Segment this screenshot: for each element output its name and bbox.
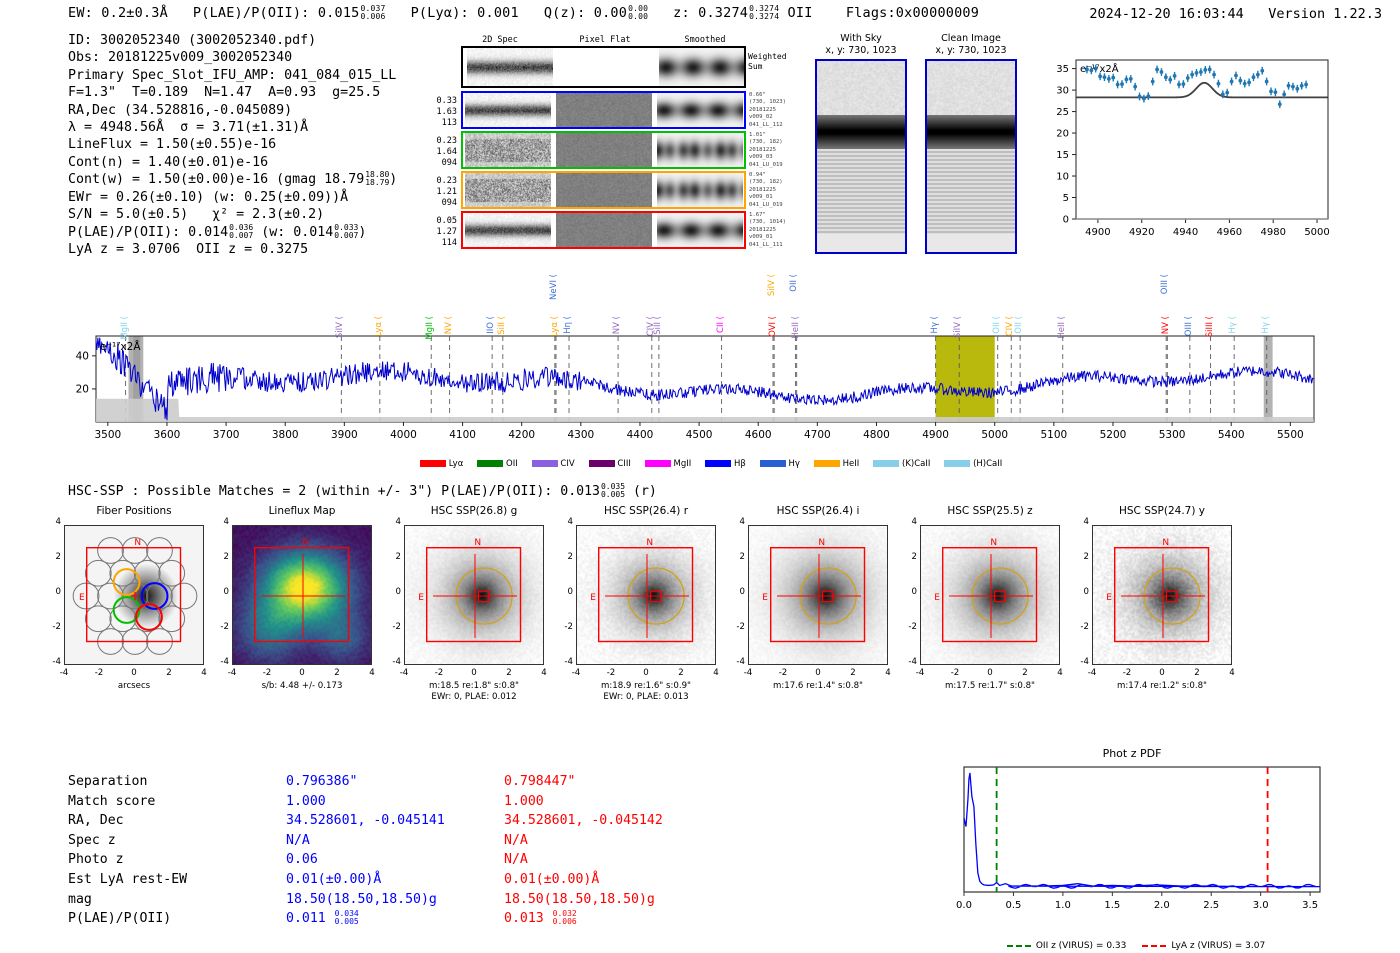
hsc-cutout-overlay: NE [921, 526, 1060, 665]
fiber-row-panel[interactable] [461, 211, 746, 249]
weighted-sum-smoothed [659, 48, 745, 86]
svg-text:N: N [134, 538, 141, 548]
cutout-xtick: 2 [329, 668, 345, 678]
cutout-xtick: 2 [1017, 668, 1033, 678]
cutout-ytick: 0 [558, 587, 573, 597]
fiber-row-stats: 0.051.27114 [427, 216, 457, 249]
fiber-pixelflat [556, 173, 652, 207]
info-line-ifu: Primary Spec_Slot_IFU_AMP: 041_084_015_L… [68, 67, 397, 84]
cutout-xtick: -2 [259, 668, 275, 678]
cutout-xtick: 0 [638, 668, 654, 678]
cutout-ytick: -4 [902, 657, 917, 667]
cutout-title: Lineflux Map [220, 505, 384, 517]
cutout-title: HSC SSP(26.4) r [564, 505, 728, 517]
cutout-xtick: 0 [982, 668, 998, 678]
weighted-sum-2dspec [467, 48, 553, 86]
match1-plae-value: 0.011 [286, 911, 334, 926]
fiber-smoothed [657, 213, 743, 247]
info-line-contw: Cont(w) = 1.50(±0.00)e-16 (gmag 18.7918.… [68, 171, 397, 189]
legend-item: Hγ [760, 459, 800, 469]
cutout-ytick: 2 [558, 552, 573, 562]
cutout-image[interactable]: NE [748, 525, 888, 665]
fiber-2dspec [465, 213, 551, 247]
svg-text:E: E [79, 593, 85, 603]
info-line-obs: Obs: 20181225v009_3002052340 [68, 49, 397, 66]
cutout-ytick: 4 [46, 517, 61, 527]
cutout-xtick: 4 [708, 668, 724, 678]
match-table-row: RA, Dec34.528601, -0.04514134.528601, -0… [68, 811, 688, 831]
svg-text:5500: 5500 [1277, 429, 1304, 441]
cutout-image[interactable]: NE [404, 525, 544, 665]
legend-item: CIII [589, 459, 631, 469]
cutout-caption-line1: m:17.5 re:1.7" s:0.8" [896, 681, 1084, 692]
cutout-caption-line1: arcsecs [40, 681, 228, 692]
svg-text:10: 10 [1056, 172, 1069, 183]
fiber-meta-1: (730, 1014) [749, 219, 809, 226]
svg-text:3500: 3500 [94, 429, 121, 441]
emission-line-label: SiIV ( [336, 316, 345, 338]
cutout-xtick: 0 [810, 668, 826, 678]
fiber-stat-2: 094 [427, 198, 457, 209]
fiber-positions-svg: NE [65, 526, 204, 665]
weighted-sum-label: WeightedSum [748, 52, 787, 72]
hsc-cutout-overlay: NE [577, 526, 716, 665]
fiber-stat-2: 094 [427, 158, 457, 169]
col-title-pixelflat: Pixel Flat [560, 35, 650, 45]
fiber-stat-1: 1.64 [427, 147, 457, 158]
match2-value: 18.50(18.50,18.50)g [504, 890, 655, 910]
emission-line-label: OII ( [790, 274, 799, 292]
fiber-pixelflat [556, 133, 652, 167]
info-line-wavelength: λ = 4948.56Å σ = 3.71(±1.31)Å [68, 119, 397, 136]
image-panel-cutout[interactable] [925, 59, 1017, 254]
fiber-smoothed [657, 133, 743, 167]
svg-text:5100: 5100 [1040, 429, 1067, 441]
emission-line-label: SiIV ( [768, 274, 777, 296]
cutout-caption-line1: m:17.4 re:1.2" s:0.8" [1068, 681, 1256, 692]
image-panel-cutout[interactable] [815, 59, 907, 254]
emission-line-label: Lyα ( [551, 316, 560, 337]
image-panel-name: With Sky [815, 33, 907, 45]
svg-text:1.0: 1.0 [1055, 900, 1071, 911]
emission-line-label: Hγ ( [1229, 316, 1238, 333]
cutout-caption: arcsecs [40, 681, 228, 692]
lineflux-overlay: N [233, 526, 372, 665]
match2-plae-value: 0.013 [504, 911, 552, 926]
cutout-row: Fiber PositionsNE-4-2024-4-2024arcsecsLi… [0, 505, 1400, 735]
match1-value: 18.50(18.50,18.50)g [286, 890, 437, 910]
cutout-xtick: 4 [196, 668, 212, 678]
image-panel-coords: x, y: 730, 1023 [815, 45, 907, 57]
cutout-caption-line2: EWr: 0, PLAE: 0.012 [380, 692, 568, 703]
cutout-ytick: -4 [558, 657, 573, 667]
fiber-stat-2: 114 [427, 238, 457, 249]
cutout-xtick: -2 [947, 668, 963, 678]
header-z-line: OII [788, 5, 813, 21]
cutout-ytick: 4 [1074, 517, 1089, 527]
cutout-ytick: 4 [214, 517, 229, 527]
cutout-ytick: 0 [46, 587, 61, 597]
svg-text:20: 20 [76, 383, 89, 395]
fiber-row-panel[interactable] [461, 171, 746, 209]
phot-z-legend-item: OII z (VIRUS) = 0.33 [1007, 941, 1127, 951]
cutout-title: HSC SSP(26.8) g [392, 505, 556, 517]
legend-label: OII [503, 459, 517, 469]
background-noise [817, 61, 905, 115]
cutout-ytick: 0 [730, 587, 745, 597]
legend-swatch [532, 460, 558, 467]
background-noise [927, 61, 1015, 115]
spectrum-trace [96, 338, 1314, 421]
emission-line-label: CII ( [717, 316, 726, 333]
highlight-band [936, 336, 995, 422]
cutout-image[interactable]: NE [920, 525, 1060, 665]
legend-swatch [873, 460, 899, 467]
col-title-smoothed: Smoothed [660, 35, 750, 45]
cutout-ytick: -2 [46, 622, 61, 632]
legend-label: Lyα [446, 459, 463, 469]
trace-band [817, 115, 905, 149]
cutout-ytick: -4 [1074, 657, 1089, 667]
svg-text:4600: 4600 [745, 429, 772, 441]
fiber-row-stats: 0.231.21094 [427, 176, 457, 209]
legend-item: Lyα [420, 459, 463, 469]
cutout-xtick: 4 [364, 668, 380, 678]
svg-text:4300: 4300 [567, 429, 594, 441]
svg-text:N: N [646, 538, 653, 548]
legend-label: Hγ [786, 459, 800, 469]
match-table-row: Photo z0.06N/A [68, 850, 688, 870]
cutout-caption-line1: s/b: 4.48 +/- 0.173 [208, 681, 396, 692]
header-plae-lo: 0.006 [360, 13, 385, 21]
cutout-ytick: 4 [386, 517, 401, 527]
emission-line-label: SiII ( [654, 316, 663, 335]
full-spectrum-panel: 2040350036003700380039004000410042004300… [0, 270, 1400, 470]
match2-value: 0.01(±0.00)Å [504, 870, 599, 890]
svg-text:E: E [762, 593, 768, 603]
cutout-caption: s/b: 4.48 +/- 0.173 [208, 681, 396, 692]
cutout-ytick: 2 [730, 552, 745, 562]
fiber-meta-4: 041_LU_019 [749, 162, 809, 169]
cutout-ytick: 0 [214, 587, 229, 597]
svg-text:E: E [590, 593, 596, 603]
svg-text:2.5: 2.5 [1203, 900, 1219, 911]
fiber-meta-4: 041_LL_112 [749, 122, 809, 129]
svg-text:4700: 4700 [804, 429, 831, 441]
legend-swatch [705, 460, 731, 467]
match-table-row: Separation0.796386"0.798447" [68, 772, 688, 792]
cutout-xtick: -2 [91, 668, 107, 678]
cutout-xtick: -4 [912, 668, 928, 678]
svg-text:4940: 4940 [1173, 227, 1198, 238]
svg-text:15: 15 [1056, 150, 1069, 161]
cutout-image[interactable]: NE [64, 525, 204, 665]
match2-value: N/A [504, 831, 528, 851]
svg-text:3700: 3700 [213, 429, 240, 441]
match2-value: N/A [504, 850, 528, 870]
cutout-caption: m:17.5 re:1.7" s:0.8" [896, 681, 1084, 692]
fiber-pixelflat [556, 93, 652, 127]
legend-label: (H)CaII [970, 459, 1002, 469]
image-panel-coords: x, y: 730, 1023 [925, 45, 1017, 57]
fiber-meta-1: (730, 1023) [749, 99, 809, 106]
svg-text:3600: 3600 [154, 429, 181, 441]
cutout-xtick: 2 [1189, 668, 1205, 678]
svg-text:25: 25 [1056, 107, 1069, 118]
emission-line-label: NV ( [1162, 316, 1171, 334]
cutout-caption: m:17.4 re:1.2" s:0.8" [1068, 681, 1256, 692]
cutout-ytick: -4 [730, 657, 745, 667]
svg-text:N: N [474, 538, 481, 548]
cutout-caption-line1: m:18.9 re:1.6" s:0.9" [552, 681, 740, 692]
cutout-title: HSC SSP(24.7) y [1080, 505, 1244, 517]
svg-text:20: 20 [1056, 129, 1069, 140]
fiber-row-panel[interactable] [461, 91, 746, 129]
match1-plae-lo: 0.005 [335, 918, 359, 926]
match1-value: 0.01(±0.00)Å [286, 870, 381, 890]
match-row-label: mag [68, 890, 92, 910]
cutout-xtick: -4 [1084, 668, 1100, 678]
emission-line-label: NV ( [613, 316, 622, 334]
emission-line-label: IIO ( [487, 316, 496, 334]
cutout-ytick: 4 [730, 517, 745, 527]
svg-text:N: N [818, 538, 825, 548]
legend-swatch [420, 460, 446, 467]
hsc-cutout-overlay: NE [405, 526, 544, 665]
legend-item: (H)CaII [944, 459, 1002, 469]
legend-swatch [760, 460, 786, 467]
cutout-xtick: 4 [536, 668, 552, 678]
zoomed-spectrum-svg: 05101520253035490049204940496049805000e⁻… [1036, 48, 1336, 253]
fiber-2dspec [465, 133, 551, 167]
cutout-ytick: 2 [1074, 552, 1089, 562]
match-table-row-plae: P(LAE)/P(OII)0.011 0.0340.0050.013 0.032… [68, 909, 688, 929]
header-ew: EW: 0.2±0.3Å [68, 5, 168, 21]
info-line-ewr: EWr = 0.26(±0.10) (w: 0.25(±0.09))Å [68, 189, 397, 206]
fiber-2dspec [465, 93, 551, 127]
zoomed-line-plot: 05101520253035490049204940496049805000e⁻… [1036, 48, 1336, 257]
cutout-caption: m:18.5 re:1.8" s:0.8"EWr: 0, PLAE: 0.012 [380, 681, 568, 703]
emission-line-label: OII ( [1015, 316, 1024, 334]
svg-text:4920: 4920 [1129, 227, 1154, 238]
svg-text:5400: 5400 [1218, 429, 1245, 441]
svg-text:1.5: 1.5 [1104, 900, 1120, 911]
legend-item: CIV [532, 459, 575, 469]
svg-text:3.5: 3.5 [1302, 900, 1318, 911]
fiber-row-meta: 0.94"(730, 182)20181225v009_01041_LU_019 [749, 172, 809, 209]
fiber-stat-1: 1.63 [427, 107, 457, 118]
fiber-meta-0: 1.67" [749, 212, 809, 219]
fiber-2dspec [465, 173, 551, 207]
header-z: z: 0.3274 [673, 5, 748, 21]
legend-swatch [477, 460, 503, 467]
cutout-caption-line2: EWr: 0, PLAE: 0.013 [552, 692, 740, 703]
legend-label: MgII [671, 459, 691, 469]
cutout-ytick: 4 [558, 517, 573, 527]
fiber-row-panel[interactable] [461, 131, 746, 169]
cutout-xtick: 2 [501, 668, 517, 678]
emission-line-label: Hγ ( [1262, 316, 1271, 333]
fiber-smoothed [657, 93, 743, 127]
info-line-id: ID: 3002052340 (3002052340.pdf) [68, 32, 397, 49]
match-row-label: Est LyA rest-EW [68, 870, 187, 890]
fiber-meta-2: 20181225 [749, 147, 809, 154]
detection-info-block: ID: 3002052340 (3002052340.pdf) Obs: 201… [68, 32, 397, 259]
fiber-stat-0: 0.33 [427, 96, 457, 107]
legend-label: Hβ [731, 459, 746, 469]
legend-item: (K)CaII [873, 459, 930, 469]
phot-z-pdf-panel: Phot z PDF0.00.51.01.52.02.53.03.5OII z … [934, 745, 1330, 900]
match-row-label: Photo z [68, 850, 124, 870]
match-row-label: RA, Dec [68, 811, 124, 831]
cutout-xtick: 4 [880, 668, 896, 678]
svg-text:N: N [1162, 538, 1169, 548]
full-spectrum-svg: 2040350036003700380039004000410042004300… [0, 270, 1400, 470]
legend-item: HeII [814, 459, 859, 469]
svg-text:4000: 4000 [390, 429, 417, 441]
cutout-xtick: 0 [466, 668, 482, 678]
fiber-stat-0: 0.23 [427, 136, 457, 147]
flux-unit-annotation: e⁻¹⁷x2Å [1080, 62, 1119, 75]
header-qz-lo: 0.00 [628, 13, 648, 21]
match-row-label: Spec z [68, 831, 116, 851]
svg-text:N: N [990, 538, 997, 548]
cutout-xtick: 4 [1052, 668, 1068, 678]
match-row-label: Match score [68, 792, 155, 812]
timestamp: 2024-12-20 16:03:44 [1089, 6, 1243, 22]
emission-line-label: SiIV ( [954, 316, 963, 338]
striping-pattern [817, 149, 905, 234]
emission-line-label: HeII ( [1058, 316, 1067, 339]
legend-label: (K)CaII [899, 459, 930, 469]
match2-plae-lo: 0.006 [553, 918, 577, 926]
cutout-title: Fiber Positions [52, 505, 216, 517]
legend-label: CIII [615, 459, 631, 469]
weighted-sum-panel [461, 46, 746, 88]
svg-text:3.0: 3.0 [1253, 900, 1269, 911]
info-line-radec: RA,Dec (34.528816,-0.045089) [68, 102, 397, 119]
fiber-row-stats: 0.331.63113 [427, 96, 457, 129]
match1-value: 0.06 [286, 850, 318, 870]
cutout-image[interactable]: N [232, 525, 372, 665]
spectrum-legend: Lyα OII CIV CIII MgII Hβ Hγ HeII (K)CaII… [420, 451, 1400, 470]
info-line-contn: Cont(n) = 1.40(±0.01)e-16 [68, 154, 397, 171]
phot-z-legend-swatch [1142, 945, 1166, 947]
cutout-ytick: -4 [46, 657, 61, 667]
fiber-stat-0: 0.23 [427, 176, 457, 187]
fiber-row-meta: 1.01"(730, 182)20181225v009_03041_LU_019 [749, 132, 809, 169]
cutout-ytick: -2 [558, 622, 573, 632]
match-table-row: Match score1.0001.000 [68, 792, 688, 812]
svg-text:4800: 4800 [863, 429, 890, 441]
svg-text:4900: 4900 [922, 429, 949, 441]
cutout-caption: m:18.9 re:1.6" s:0.9"EWr: 0, PLAE: 0.013 [552, 681, 740, 703]
fiber-meta-2: 20181225 [749, 227, 809, 234]
cutout-xtick: 2 [845, 668, 861, 678]
svg-text:4980: 4980 [1260, 227, 1285, 238]
svg-text:4500: 4500 [686, 429, 713, 441]
fiber-meta-3: v009_01 [749, 234, 809, 241]
cutout-xtick: -4 [224, 668, 240, 678]
cutout-caption: m:17.6 re:1.4" s:0.8" [724, 681, 912, 692]
emission-line-label: OII ( [993, 316, 1002, 334]
info-line-redshifts: LyA z = 3.0706 OII z = 0.3275 [68, 241, 397, 258]
svg-text:5: 5 [1063, 193, 1069, 204]
match1-value: 34.528601, -0.045141 [286, 811, 445, 831]
svg-text:e⁻¹⁷x2Å: e⁻¹⁷x2Å [100, 340, 141, 353]
fiber-meta-1: (730, 182) [749, 139, 809, 146]
cutout-ytick: 2 [214, 552, 229, 562]
emission-line-label: HeII ( [792, 316, 801, 339]
cutout-xtick: -4 [396, 668, 412, 678]
fiber-meta-4: 041_LL_111 [749, 242, 809, 249]
fiber-meta-0: 0.66" [749, 92, 809, 99]
match-row-label: P(LAE)/P(OII) [68, 909, 171, 929]
header-summary-line: EW: 0.2±0.3Å P(LAE)/P(OII): 0.0150.0370.… [68, 5, 979, 21]
cutout-ytick: 2 [386, 552, 401, 562]
emission-line-label: SiII ( [498, 316, 507, 335]
header-z-lo: 0.3274 [749, 13, 779, 21]
svg-text:30: 30 [1056, 86, 1069, 97]
fiber-meta-0: 1.01" [749, 132, 809, 139]
legend-swatch [944, 460, 970, 467]
emission-line-label: OIII ( [1185, 316, 1194, 336]
header-flags: Flags:0x00000009 [846, 5, 979, 21]
fiber-stat-1: 1.27 [427, 227, 457, 238]
match1-value: N/A [286, 831, 310, 851]
svg-text:3900: 3900 [331, 429, 358, 441]
image-panel-name: Clean Image [925, 33, 1017, 45]
info-line-seeing: F=1.3" T=0.189 N=1.47 A=0.93 g=25.5 [68, 84, 397, 101]
cutout-xtick: 0 [294, 668, 310, 678]
striping-pattern [927, 149, 1015, 234]
header-plae-label: P(LAE)/P(OII): [193, 5, 310, 21]
fiber-meta-2: 20181225 [749, 107, 809, 114]
cutout-xtick: -2 [775, 668, 791, 678]
fiber-meta-0: 0.94" [749, 172, 809, 179]
cutout-xtick: 2 [161, 668, 177, 678]
svg-text:4200: 4200 [508, 429, 535, 441]
fiber-meta-2: 20181225 [749, 187, 809, 194]
image-panel-title: Clean Imagex, y: 730, 1023 [925, 33, 1017, 57]
legend-item: Hβ [705, 459, 746, 469]
info-line-plae: P(LAE)/P(OII): 0.0140.0360.007 (w: 0.014… [68, 224, 397, 242]
cutout-image[interactable]: NE [1092, 525, 1232, 665]
fiber-smoothed [657, 173, 743, 207]
svg-text:E: E [1106, 593, 1112, 603]
header-qz: Q(z): 0.00 [544, 5, 627, 21]
cutout-ytick: -4 [214, 657, 229, 667]
emission-line-label: SiIII ( [1206, 316, 1215, 337]
cutout-xtick: 4 [1224, 668, 1240, 678]
svg-text:2.0: 2.0 [1154, 900, 1170, 911]
col-title-2dspec: 2D Spec [455, 35, 545, 45]
svg-text:5000: 5000 [1304, 227, 1329, 238]
cutout-xtick: -4 [56, 668, 72, 678]
cutout-image[interactable]: NE [576, 525, 716, 665]
svg-text:0.5: 0.5 [1005, 900, 1021, 911]
emission-line-label: OVI ( [769, 316, 778, 337]
cutout-xtick: 0 [1154, 668, 1170, 678]
cutout-caption-line1: m:17.6 re:1.4" s:0.8" [724, 681, 912, 692]
cutout-title: HSC SSP(26.4) i [736, 505, 900, 517]
phot-z-legend-label: LyA z (VIRUS) = 3.07 [1171, 941, 1265, 951]
svg-text:4900: 4900 [1085, 227, 1110, 238]
cutout-ytick: 0 [1074, 587, 1089, 597]
hsc-cutout-overlay: NE [749, 526, 888, 665]
legend-label: HeII [840, 459, 859, 469]
cutout-ytick: 2 [902, 552, 917, 562]
